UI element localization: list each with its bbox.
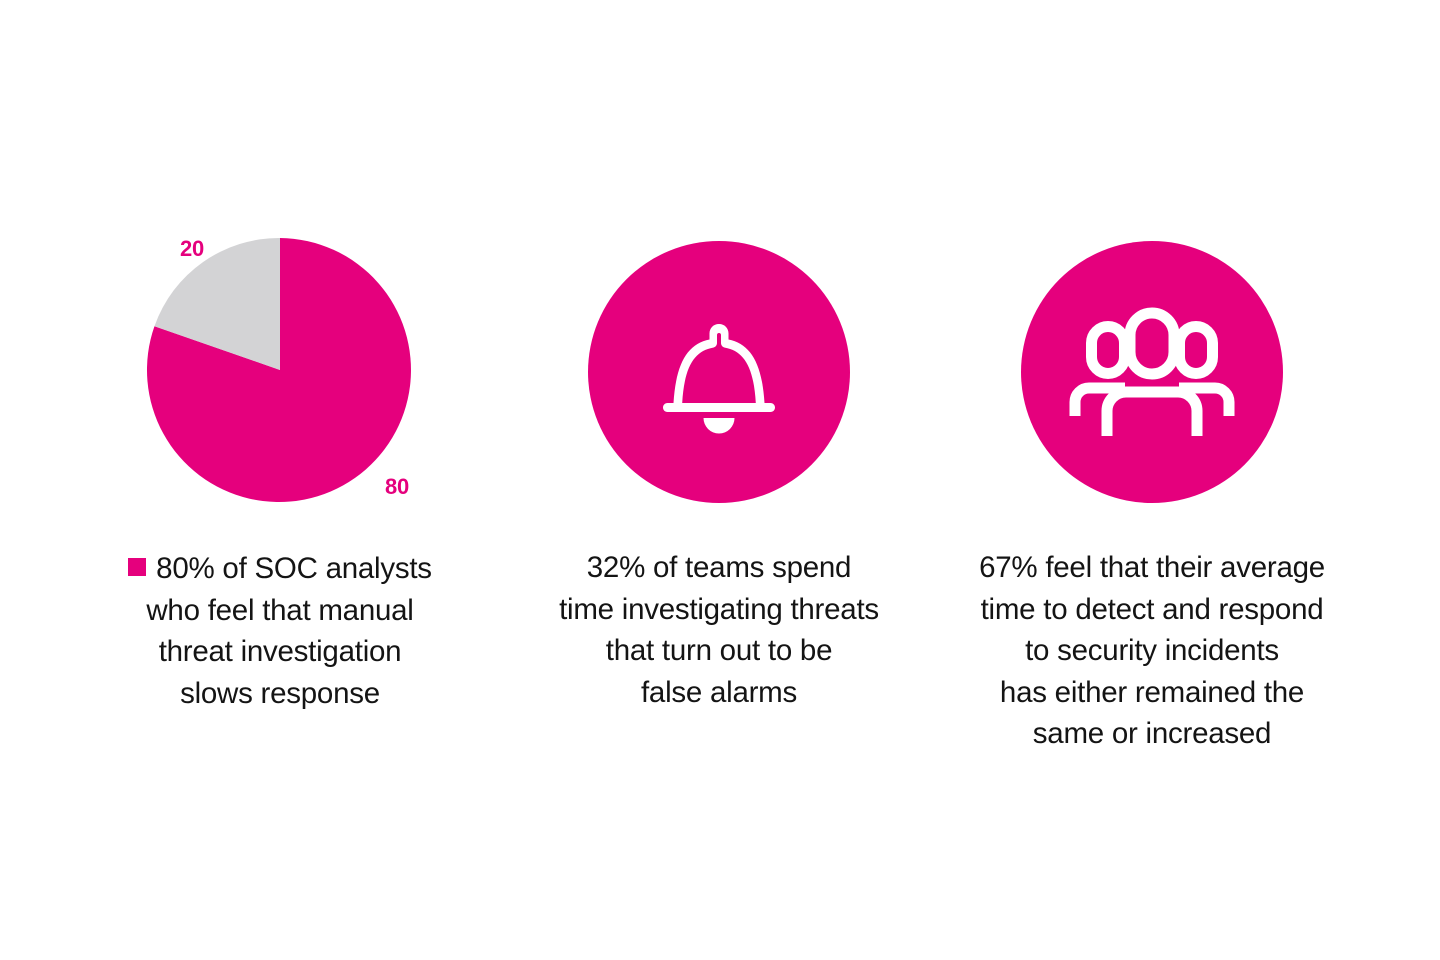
caption-line: 67% feel that their average (934, 547, 1370, 589)
caption-line: same or increased (934, 713, 1370, 755)
caption-line: slows response (64, 673, 496, 715)
person-center-head (1130, 313, 1174, 374)
pie-label-minor: 20 (180, 238, 204, 260)
bell-clapper (704, 418, 735, 434)
caption-line: who feel that manual (64, 590, 496, 632)
pie-chart-svg (146, 236, 414, 504)
caption-line: false alarms (503, 672, 935, 714)
caption-line-text: 80% of SOC analysts (156, 552, 432, 585)
caption-line: time to detect and respond (934, 589, 1370, 631)
stat-panel-soc-analysts: 20 80 80% of SOC analysts who feel that … (64, 236, 496, 714)
person-left-head (1092, 327, 1125, 374)
legend-swatch-icon (128, 558, 146, 576)
caption-line: has either remained the (934, 672, 1370, 714)
icon-circle-background (1021, 241, 1283, 503)
pie-chart: 20 80 (146, 236, 414, 504)
person-center-body (1107, 392, 1197, 436)
caption-line: time investigating threats (503, 589, 935, 631)
bell-icon (649, 302, 789, 442)
person-right-head (1180, 327, 1213, 374)
infographic-root: 20 80 80% of SOC analysts who feel that … (0, 0, 1440, 960)
caption-line: threat investigation (64, 631, 496, 673)
stat-caption-detect-respond-time: 67% feel that their average time to dete… (934, 547, 1370, 755)
caption-line: 80% of SOC analysts (64, 548, 496, 590)
caption-line: to security incidents (934, 630, 1370, 672)
caption-line: that turn out to be (503, 630, 935, 672)
people-group-icon (1068, 302, 1236, 442)
stat-caption-soc-analysts: 80% of SOC analysts who feel that manual… (64, 548, 496, 714)
stat-caption-false-alarms: 32% of teams spend time investigating th… (503, 547, 935, 713)
pie-label-major: 80 (385, 476, 409, 498)
caption-line: 32% of teams spend (503, 547, 935, 589)
stat-panel-false-alarms: 32% of teams spend time investigating th… (503, 236, 935, 713)
icon-badge-bell (588, 241, 850, 503)
stat-panel-detect-respond-time: 67% feel that their average time to dete… (936, 236, 1368, 755)
icon-circle-background (588, 241, 850, 503)
icon-badge-people (1021, 241, 1283, 503)
